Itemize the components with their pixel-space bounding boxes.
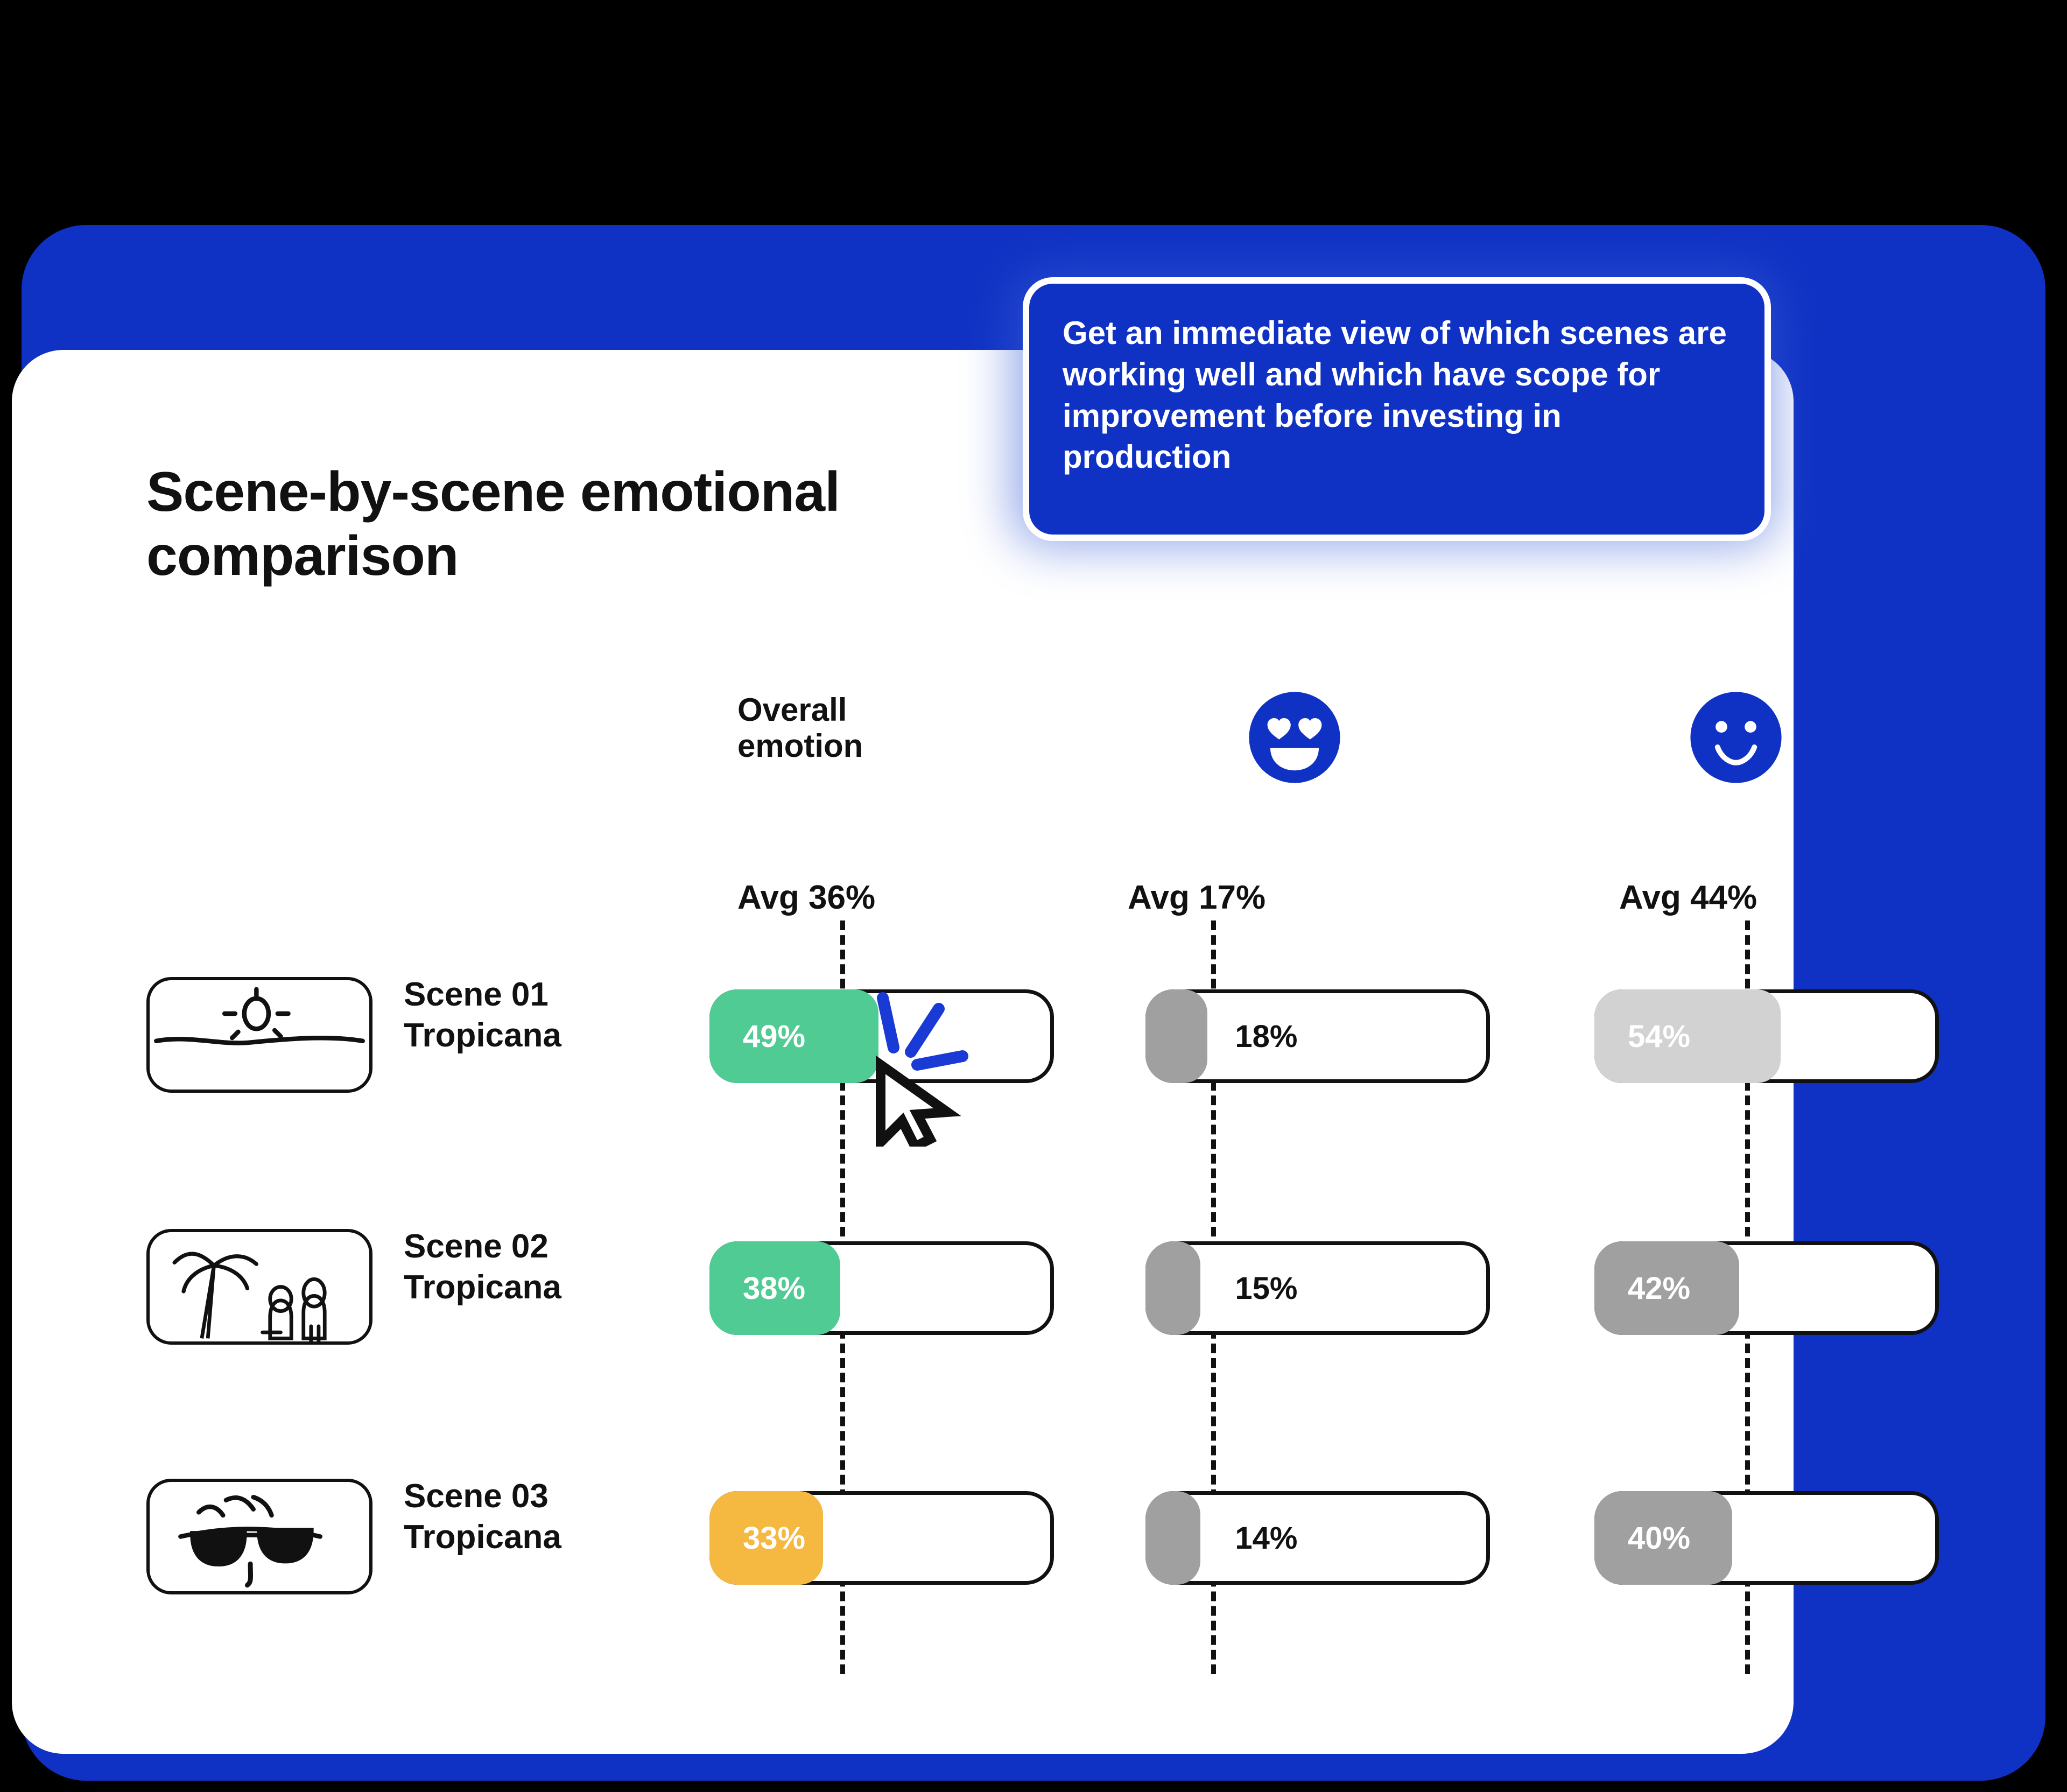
- bar-smiley-scene02[interactable]: 42%: [1594, 1241, 1939, 1335]
- bar-smiley-scene01[interactable]: 54%: [1594, 989, 1939, 1083]
- column-header-overall-emotion: Overallemotion: [737, 692, 964, 764]
- bar-heart-eyes-scene03[interactable]: 14%: [1145, 1491, 1490, 1585]
- tooltip-text: Get an immediate view of which scenes ar…: [1063, 313, 1735, 478]
- scene-label: Scene 02 Tropicana: [404, 1226, 705, 1308]
- heart-eyes-emoji-icon: [1246, 689, 1343, 786]
- scene-name: Scene 03: [404, 1478, 549, 1515]
- scene-name: Scene 02: [404, 1228, 549, 1265]
- mouse-pointer-click-icon: [850, 985, 1023, 1141]
- bar-value-label: 18%: [1235, 989, 1297, 1083]
- bar-overall-scene02[interactable]: 38%: [709, 1241, 1054, 1335]
- bar-value-label: 42%: [1628, 1270, 1690, 1306]
- bar-fill: 33%: [709, 1491, 823, 1585]
- bar-value-label: 49%: [743, 1018, 805, 1055]
- bar-smiley-scene03[interactable]: 40%: [1594, 1491, 1939, 1585]
- bar-fill: 54%: [1594, 989, 1781, 1083]
- bar-value-label: 14%: [1235, 1491, 1297, 1585]
- scene-brand: Tropicana: [404, 1519, 561, 1556]
- table-row: Scene 02 Tropicana 38% 15% 42%: [0, 1226, 2067, 1350]
- info-tooltip: Get an immediate view of which scenes ar…: [1023, 277, 1771, 541]
- smiley-emoji-icon: [1688, 689, 1784, 786]
- scene-brand: Tropicana: [404, 1017, 561, 1054]
- scene-label: Scene 01 Tropicana: [404, 974, 705, 1056]
- bar-fill: [1145, 1491, 1200, 1585]
- scene-label: Scene 03 Tropicana: [404, 1476, 705, 1557]
- bar-overall-scene03[interactable]: 33%: [709, 1491, 1054, 1585]
- bar-heart-eyes-scene02[interactable]: 15%: [1145, 1241, 1490, 1335]
- bar-value-label: 38%: [743, 1270, 805, 1306]
- scene-name: Scene 01: [404, 976, 549, 1013]
- bar-fill: 40%: [1594, 1491, 1732, 1585]
- bar-fill: 38%: [709, 1241, 840, 1335]
- scene-thumbnail-sunglasses[interactable]: [146, 1479, 372, 1594]
- bar-value-label: 15%: [1235, 1241, 1297, 1335]
- table-row: Scene 01 Tropicana 49% 18% 54%: [0, 974, 2067, 1098]
- avg-label-heart-eyes: Avg 17%: [1128, 879, 1265, 917]
- bar-fill: 42%: [1594, 1241, 1739, 1335]
- scene-brand: Tropicana: [404, 1269, 561, 1306]
- table-row: Scene 03 Tropicana 33% 14% 40%: [0, 1476, 2067, 1600]
- bar-heart-eyes-scene01[interactable]: 18%: [1145, 989, 1490, 1083]
- bar-value-label: 54%: [1628, 1018, 1690, 1055]
- bar-value-label: 40%: [1628, 1520, 1690, 1556]
- avg-label-overall: Avg 36%: [737, 879, 875, 917]
- bar-fill: [1145, 1241, 1200, 1335]
- bar-value-label: 33%: [743, 1520, 805, 1556]
- scene-thumbnail-palm-tree-people[interactable]: [146, 1229, 372, 1345]
- scene-thumbnail-sun-horizon[interactable]: [146, 977, 372, 1093]
- avg-label-smiley: Avg 44%: [1619, 879, 1757, 917]
- page-title: Scene-by-scene emotional comparison: [146, 460, 954, 588]
- bar-fill: [1145, 989, 1207, 1083]
